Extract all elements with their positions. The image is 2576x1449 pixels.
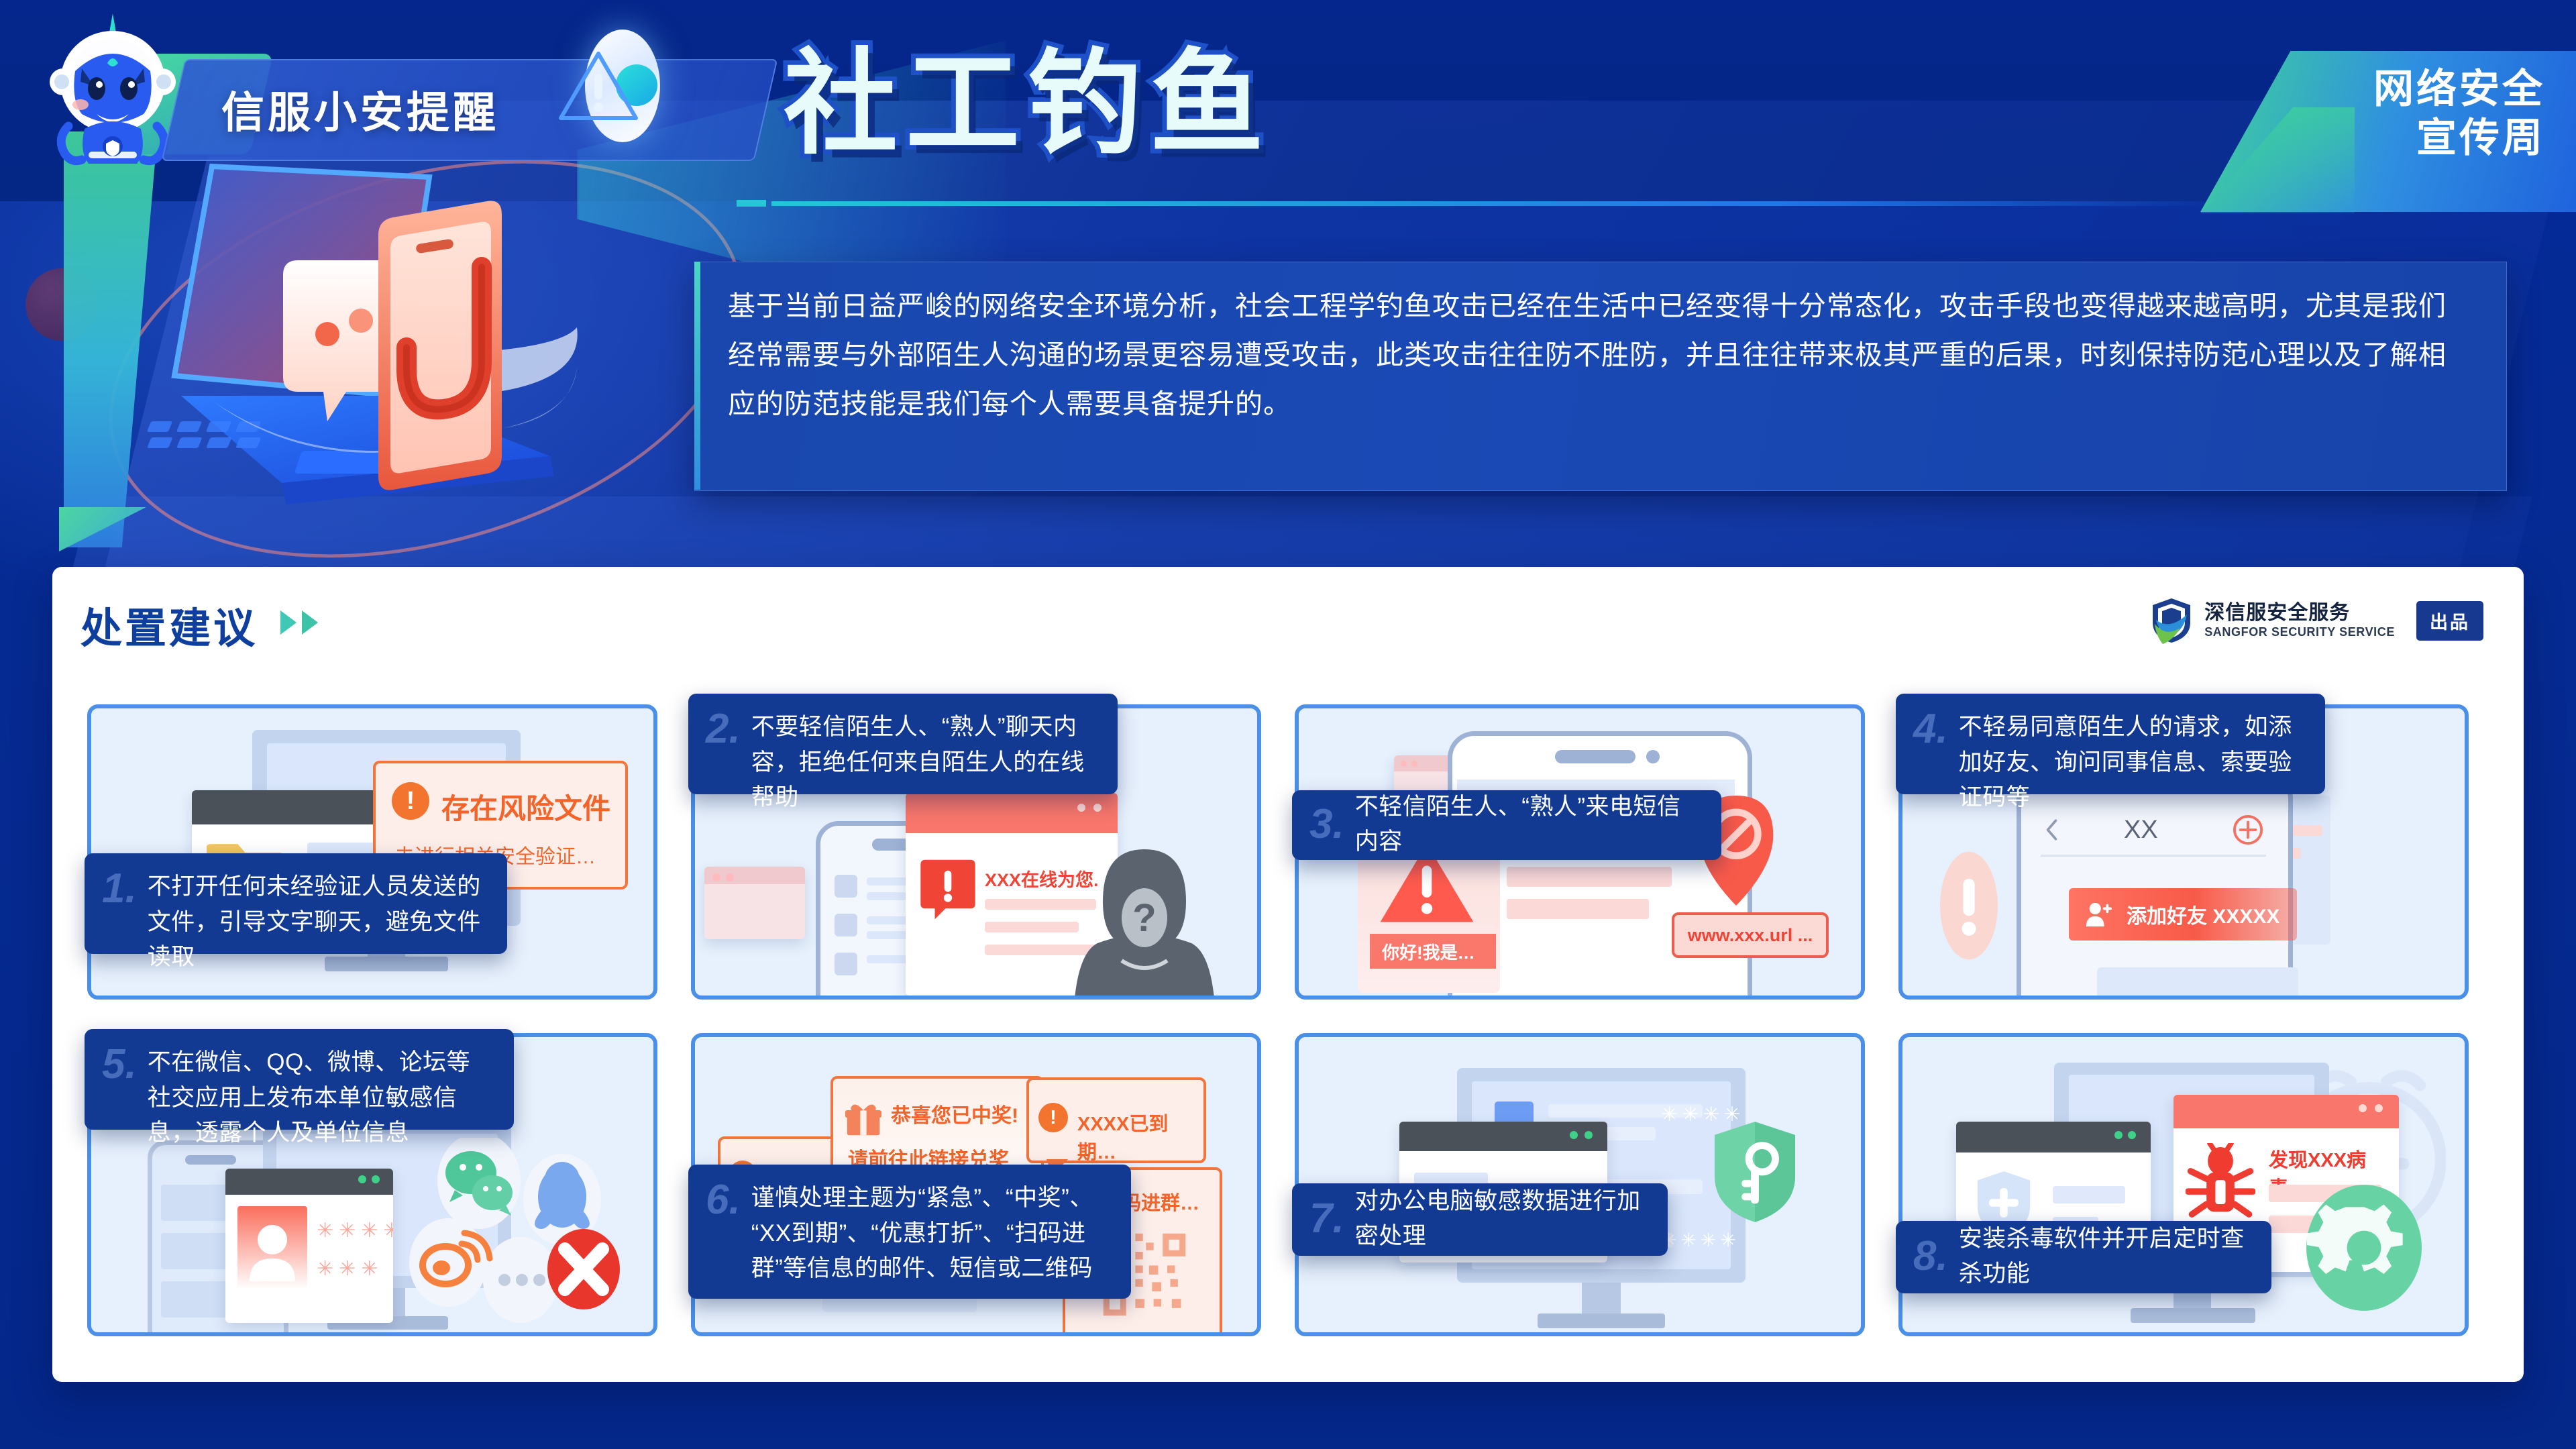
virus-bug-icon <box>2186 1143 2255 1220</box>
poster-root: 信服小安提醒 社工钓鱼 网络安全 宣传周 <box>0 0 2576 1449</box>
forbidden-x-icon <box>547 1229 620 1309</box>
card-6-number: 6. <box>706 1181 741 1220</box>
title-rule <box>771 201 2214 206</box>
advice-card-3[interactable]: 你好!我是… www.xxx.url ... 3. 不轻信陌生人、“熟人”来电短… <box>1295 704 1865 1000</box>
advice-card-2[interactable]: XXX在线为您. ? 2. 不要轻信陌生人、“熟人”聊天内容，拒绝任何来自陌生人… <box>691 704 1261 1000</box>
gift-icon <box>845 1102 881 1138</box>
section-title-arrows <box>280 610 318 635</box>
popup-prize-line1: 恭喜您已中奖! <box>891 1099 1018 1128</box>
brand-badge: 出品 <box>2416 601 2483 641</box>
brand-text: 深信服安全服务 SANGFOR SECURITY SERVICE <box>2204 602 2395 639</box>
week-banner-line2: 宣传周 <box>2257 113 2545 162</box>
card-5-number: 5. <box>102 1045 137 1085</box>
malicious-url-text: www.xxx.url ... <box>1688 925 1813 946</box>
card-2-number: 2. <box>706 710 741 749</box>
card-1-text: 不打开任何未经验证人员发送的文件，引导文字聊天，避免文件读取 <box>148 869 484 975</box>
card-7-label: 7. 对办公电脑敏感数据进行加密处理 <box>1292 1183 1668 1256</box>
add-circle-icon <box>2233 814 2263 845</box>
hero-illustration-phishing <box>80 161 671 537</box>
card-3-text: 不轻信陌生人、“熟人”来电短信内容 <box>1355 790 1699 860</box>
warning-triangle-icon <box>557 48 640 123</box>
card-1-number: 1. <box>102 869 137 909</box>
chevron-right-icon-1 <box>280 610 297 635</box>
chevron-right-icon-2 <box>302 610 318 635</box>
exclamation-icon: ! <box>392 782 429 820</box>
card-3-number: 3. <box>1309 805 1344 845</box>
popup-expire-text: XXXX已到期… <box>1077 1108 1203 1165</box>
card-2-label: 2. 不要轻信陌生人、“熟人”聊天内容，拒绝任何来自陌生人的在线帮助 <box>688 694 1118 794</box>
add-user-icon <box>2085 901 2112 928</box>
card-5-label: 5. 不在微信、QQ、微博、论坛等社交应用上发布本单位敏感信息，透露个人及单位信… <box>85 1029 514 1130</box>
card-8-number: 8. <box>1913 1237 1948 1277</box>
card-4-text: 不轻易同意陌生人的请求，如添加好友、询问同事信息、索要验证码等 <box>1959 710 2302 816</box>
advice-card-4[interactable]: XX 添加好友 XXXXX <box>1898 704 2469 1000</box>
card-6-label: 6. 谨慎处理主题为“紧急”、“中奖”、“XX到期”、“优惠打折”、“扫码进群”… <box>688 1165 1131 1299</box>
page-title: 社工钓鱼 <box>784 47 1521 161</box>
card-2-text: 不要轻信陌生人、“熟人”聊天内容，拒绝任何来自陌生人的在线帮助 <box>751 710 1095 816</box>
card-6-text: 谨慎处理主题为“紧急”、“中奖”、“XX到期”、“优惠打折”、“扫码进群”等信息… <box>751 1181 1108 1287</box>
card-5-text: 不在微信、QQ、微博、论坛等社交应用上发布本单位敏感信息，透露个人及单位信息 <box>148 1045 491 1151</box>
section-title: 处置建议 <box>80 594 258 655</box>
advice-card-7[interactable]: ✳✳✳✳ ✳✳✳✳ <box>1295 1033 1865 1336</box>
brand-name-cn: 深信服安全服务 <box>2204 602 2395 624</box>
description-text: 基于当前日益严峻的网络安全环境分析，社会工程学钓鱼攻击已经在生活中已经变得十分常… <box>728 282 2472 476</box>
sms-text: 你好!我是… <box>1382 939 1475 964</box>
more-dots-icon <box>498 1274 545 1286</box>
gear-settings-icon <box>2305 1182 2423 1313</box>
add-friend-text: 添加好友 XXXXX <box>2127 900 2279 929</box>
card-8-label: 8. 安装杀毒软件并开启定时查杀功能 <box>1896 1221 2271 1293</box>
advice-cards-grid: ! 存在风险文件 未进行相关安全验证… 1. 不打开任何未经验证人员发送的文件，… <box>87 684 2495 1355</box>
title-rule-dash <box>737 200 766 207</box>
malicious-url-tag: www.xxx.url ... <box>1672 912 1829 958</box>
card-1-label: 1. 不打开任何未经验证人员发送的文件，引导文字聊天，避免文件读取 <box>85 853 507 954</box>
description-accent-bar <box>694 262 700 490</box>
advice-card-8[interactable]: 发现XXX病毒… 8. 安装杀毒软件并开启定时查杀功能 <box>1898 1033 2469 1336</box>
card-8-text: 安装杀毒软件并开启定时查杀功能 <box>1959 1222 2249 1292</box>
encryption-shield-icon <box>1712 1119 1798 1225</box>
card-3-label: 3. 不轻信陌生人、“熟人”来电短信内容 <box>1292 790 1721 860</box>
svg-text:?: ? <box>1132 896 1156 940</box>
week-banner-line1: 网络安全 <box>2257 64 2545 113</box>
alert-badge-icon <box>1940 848 1998 963</box>
brand-name-en: SANGFOR SECURITY SERVICE <box>2204 626 2395 639</box>
card-7-text: 对办公电脑敏感数据进行加密处理 <box>1355 1184 1645 1254</box>
shield-logo-icon <box>2151 597 2192 644</box>
id-card-window: ✳✳✳✳✳✳✳ <box>225 1169 393 1323</box>
card-4-label: 4. 不轻易同意陌生人的请求，如添加好友、询问同事信息、索要验证码等 <box>1896 694 2325 794</box>
hooded-stranger-icon: ? <box>1057 843 1232 996</box>
phone-nav-title: XX <box>2124 816 2158 845</box>
exclamation-icon: ! <box>1038 1103 1068 1132</box>
social-app-icons <box>407 1138 628 1326</box>
popup-expire: ! XXXX已到期… <box>1026 1077 1206 1163</box>
card-4-number: 4. <box>1913 710 1948 749</box>
add-friend-banner: 添加好友 XXXXX <box>2069 888 2297 941</box>
advice-card-5[interactable]: ✳✳✳✳✳✳✳ <box>87 1033 657 1336</box>
back-chevron-icon <box>2045 818 2059 841</box>
card-7-number: 7. <box>1309 1199 1344 1239</box>
cybersecurity-week-banner: 网络安全 宣传周 <box>2200 0 2576 213</box>
advice-card-1[interactable]: ! 存在风险文件 未进行相关安全验证… 1. 不打开任何未经验证人员发送的文件，… <box>87 704 657 1000</box>
advice-card-6[interactable]: ! 紧急通知… 恭喜您已中奖! 请前往此链接兑奖 www.xxx.url... <box>691 1033 1261 1336</box>
risk-alert-title: 存在风险文件 <box>441 786 610 827</box>
brand-block: 深信服安全服务 SANGFOR SECURITY SERVICE 出品 <box>2151 597 2483 644</box>
week-banner-text: 网络安全 宣传周 <box>2257 64 2545 162</box>
